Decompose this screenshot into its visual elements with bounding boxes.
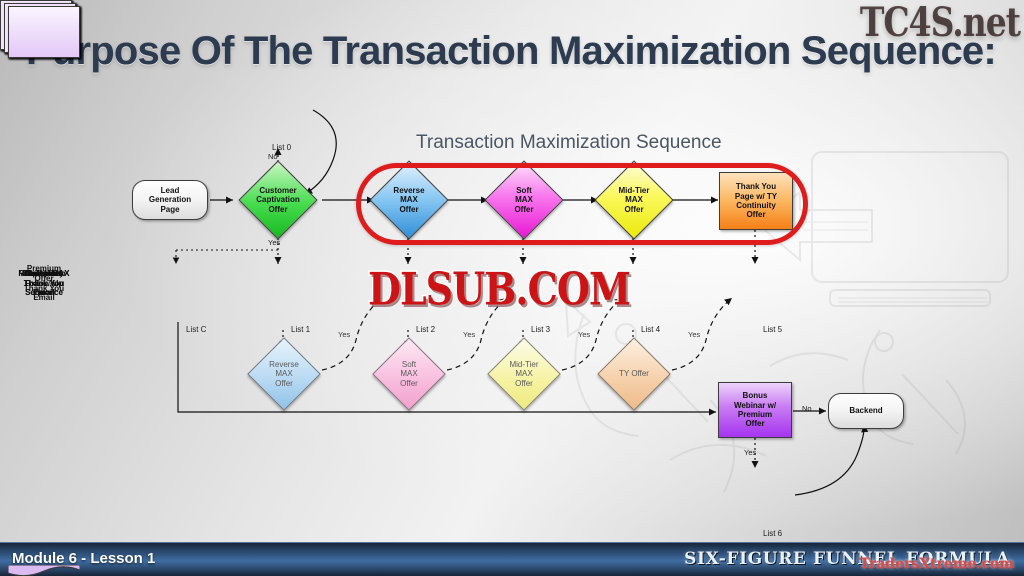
list-label-C: List C [186, 325, 206, 334]
edge-label-yes-soft-offer: Yes [463, 330, 475, 339]
edge-label-yes-midtier: Yes [624, 238, 636, 247]
edge-label-yes-bonus: Yes [744, 448, 756, 457]
node-label: ReverseMAXOffer [249, 360, 319, 388]
footer-bar: Module 6 - Lesson 1 SIX-FIGURE FUNNEL FO… [0, 542, 1024, 576]
node-label: ReverseMAXOffer [374, 186, 444, 214]
edge-label-yes-reverse: Yes [399, 238, 411, 247]
list-label-6: List 6 [763, 529, 782, 538]
node-label: CustomerCaptivationOffer [238, 186, 318, 214]
edge-label-no-bonus: No [802, 404, 812, 413]
connector-lines [0, 0, 1024, 576]
edge-label-yes-reverse-offer: Yes [338, 330, 350, 339]
node-label: TY Offer [599, 369, 669, 378]
node-soft-max-offer[interactable]: SoftMAXOffer [489, 172, 559, 228]
node-customer-captivation-offer[interactable]: CustomerCaptivationOffer [238, 172, 318, 228]
node-label: SoftMAXOffer [374, 360, 444, 388]
node-label: BonusWebinar w/PremiumOffer [719, 391, 791, 429]
node-reverse-max-offer-secondary[interactable]: ReverseMAXOffer [249, 348, 319, 400]
node-thank-you-page[interactable]: Thank YouPage w/ TYContinuityOffer [719, 172, 793, 230]
list-label-5: List 5 [763, 325, 782, 334]
sequence-subtitle: Transaction Maximization Sequence [416, 132, 722, 154]
list-label-1: List 1 [291, 325, 310, 334]
node-bonus-webinar[interactable]: BonusWebinar w/PremiumOffer [718, 382, 792, 438]
node-label: Backend [829, 406, 903, 415]
slide-canvas: Purpose Of The Transaction Maximization … [0, 0, 1024, 576]
node-midtier-max-offer[interactable]: Mid-TierMAXOffer [599, 172, 669, 228]
edge-label-yes-soft: Yes [514, 238, 526, 247]
node-label: PremiumOfferThank YouEmail [8, 0, 80, 567]
node-backend[interactable]: Backend [828, 393, 904, 429]
footer-brand-label: SIX-FIGURE FUNNEL FORMULA [684, 549, 1010, 569]
flowchart-diagram: Transaction Maximization Sequence [0, 0, 1024, 576]
list-label-4: List 4 [641, 325, 660, 334]
edge-label-yes-captivation: Yes [268, 238, 280, 247]
node-reverse-max-offer[interactable]: ReverseMAXOffer [374, 172, 444, 228]
edge-label-yes-ty-offer: Yes [688, 330, 700, 339]
node-label: Mid-TierMAXOffer [489, 360, 559, 388]
node-ty-offer[interactable]: TY Offer [599, 348, 669, 400]
node-lead-generation-page[interactable]: LeadGenerationPage [132, 180, 208, 220]
node-premium-thankyou-email[interactable]: PremiumOfferThank YouEmail [0, 406, 80, 464]
list-label-3: List 3 [531, 325, 550, 334]
node-label: Thank YouPage w/ TYContinuityOffer [720, 182, 792, 220]
list-label-2: List 2 [416, 325, 435, 334]
edge-label-no-prospect: No [268, 152, 278, 161]
node-soft-max-offer-secondary[interactable]: SoftMAXOffer [374, 348, 444, 400]
node-label: LeadGenerationPage [133, 186, 207, 214]
node-midtier-max-offer-secondary[interactable]: Mid-TierMAXOffer [489, 348, 559, 400]
node-label: SoftMAXOffer [489, 186, 559, 214]
node-label: Mid-TierMAXOffer [599, 186, 669, 214]
list-label-0: List 0 [272, 143, 291, 152]
edge-label-yes-midtier-offer: Yes [578, 330, 590, 339]
